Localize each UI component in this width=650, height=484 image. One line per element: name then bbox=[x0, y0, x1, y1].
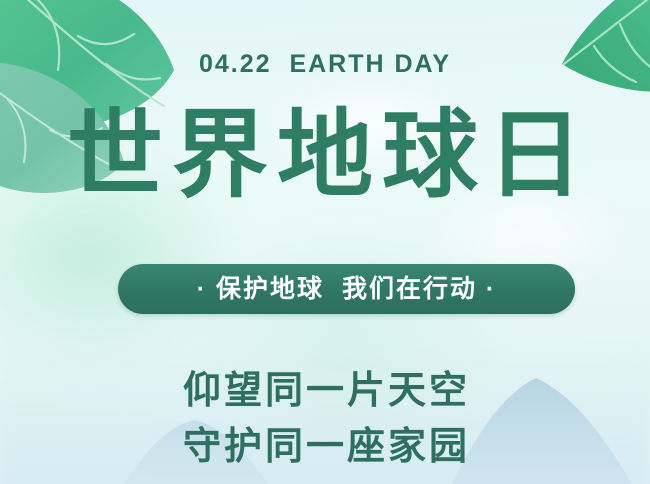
eyebrow-date-label: 04.22 EARTH DAY bbox=[0, 50, 650, 79]
page-title: 世界地球日 bbox=[0, 108, 650, 204]
tagline-line-2: 守护同一座家园 bbox=[0, 428, 650, 466]
tagline-line-1: 仰望同一片天空 bbox=[0, 372, 650, 410]
slogan-badge-label: · 保护地球 我们在行动 · bbox=[197, 277, 496, 302]
slogan-badge: · 保护地球 我们在行动 · bbox=[118, 264, 575, 314]
earth-day-poster: 04.22 EARTH DAY 世界地球日 · 保护地球 我们在行动 · 仰望同… bbox=[0, 0, 650, 484]
poster-content: 04.22 EARTH DAY 世界地球日 · 保护地球 我们在行动 · 仰望同… bbox=[0, 0, 650, 484]
